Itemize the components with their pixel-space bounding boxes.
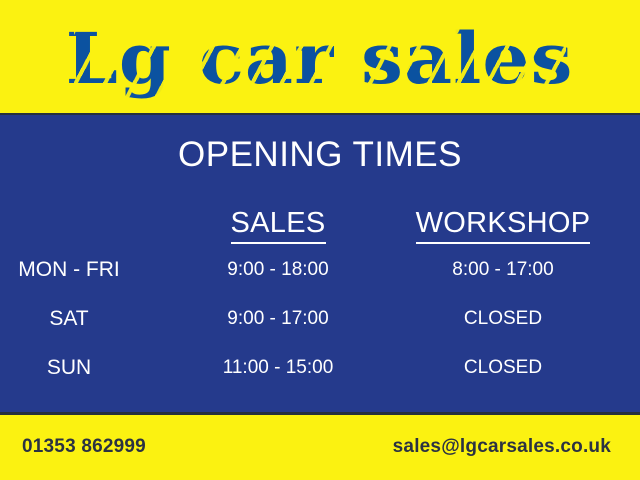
row-sales-hours: 9:00 - 18:00: [188, 255, 368, 285]
row-sales-hours: 11:00 - 15:00: [188, 353, 368, 383]
phone-number[interactable]: 01353 862999: [22, 434, 146, 460]
email-address[interactable]: sales@lgcarsales.co.uk: [393, 434, 611, 460]
table-row: MON - FRI 9:00 - 18:00 8:00 - 17:00: [0, 255, 640, 304]
header-banner: Lg car sales: [0, 0, 640, 114]
column-header-sales: SALES: [188, 205, 368, 244]
hours-table: MON - FRI 9:00 - 18:00 8:00 - 17:00 SAT …: [0, 255, 640, 402]
column-headers: SALES WORKSHOP: [0, 205, 640, 245]
logo: Lg car sales: [80, 16, 559, 98]
logo-text: Lg car sales: [66, 20, 574, 98]
page-title: OPENING TIMES: [0, 135, 640, 175]
row-sales-hours: 9:00 - 17:00: [188, 304, 368, 334]
column-header-workshop-label: WORKSHOP: [416, 205, 591, 244]
row-day-label: SAT: [0, 304, 138, 334]
row-workshop-hours: 8:00 - 17:00: [400, 255, 606, 285]
row-day-label: MON - FRI: [0, 255, 138, 285]
footer-contact-bar: 01353 862999 sales@lgcarsales.co.uk: [0, 415, 640, 480]
row-workshop-hours: CLOSED: [400, 304, 606, 334]
table-row: SAT 9:00 - 17:00 CLOSED: [0, 304, 640, 353]
opening-times-panel: OPENING TIMES SALES WORKSHOP MON - FRI 9…: [0, 115, 640, 413]
table-row: SUN 11:00 - 15:00 CLOSED: [0, 353, 640, 402]
row-day-label: SUN: [0, 353, 138, 383]
opening-times-poster: Lg car sales OPENING TIMES SALES WORKSHO…: [0, 0, 640, 480]
column-header-sales-label: SALES: [231, 205, 326, 244]
row-workshop-hours: CLOSED: [400, 353, 606, 383]
column-header-workshop: WORKSHOP: [400, 205, 606, 244]
